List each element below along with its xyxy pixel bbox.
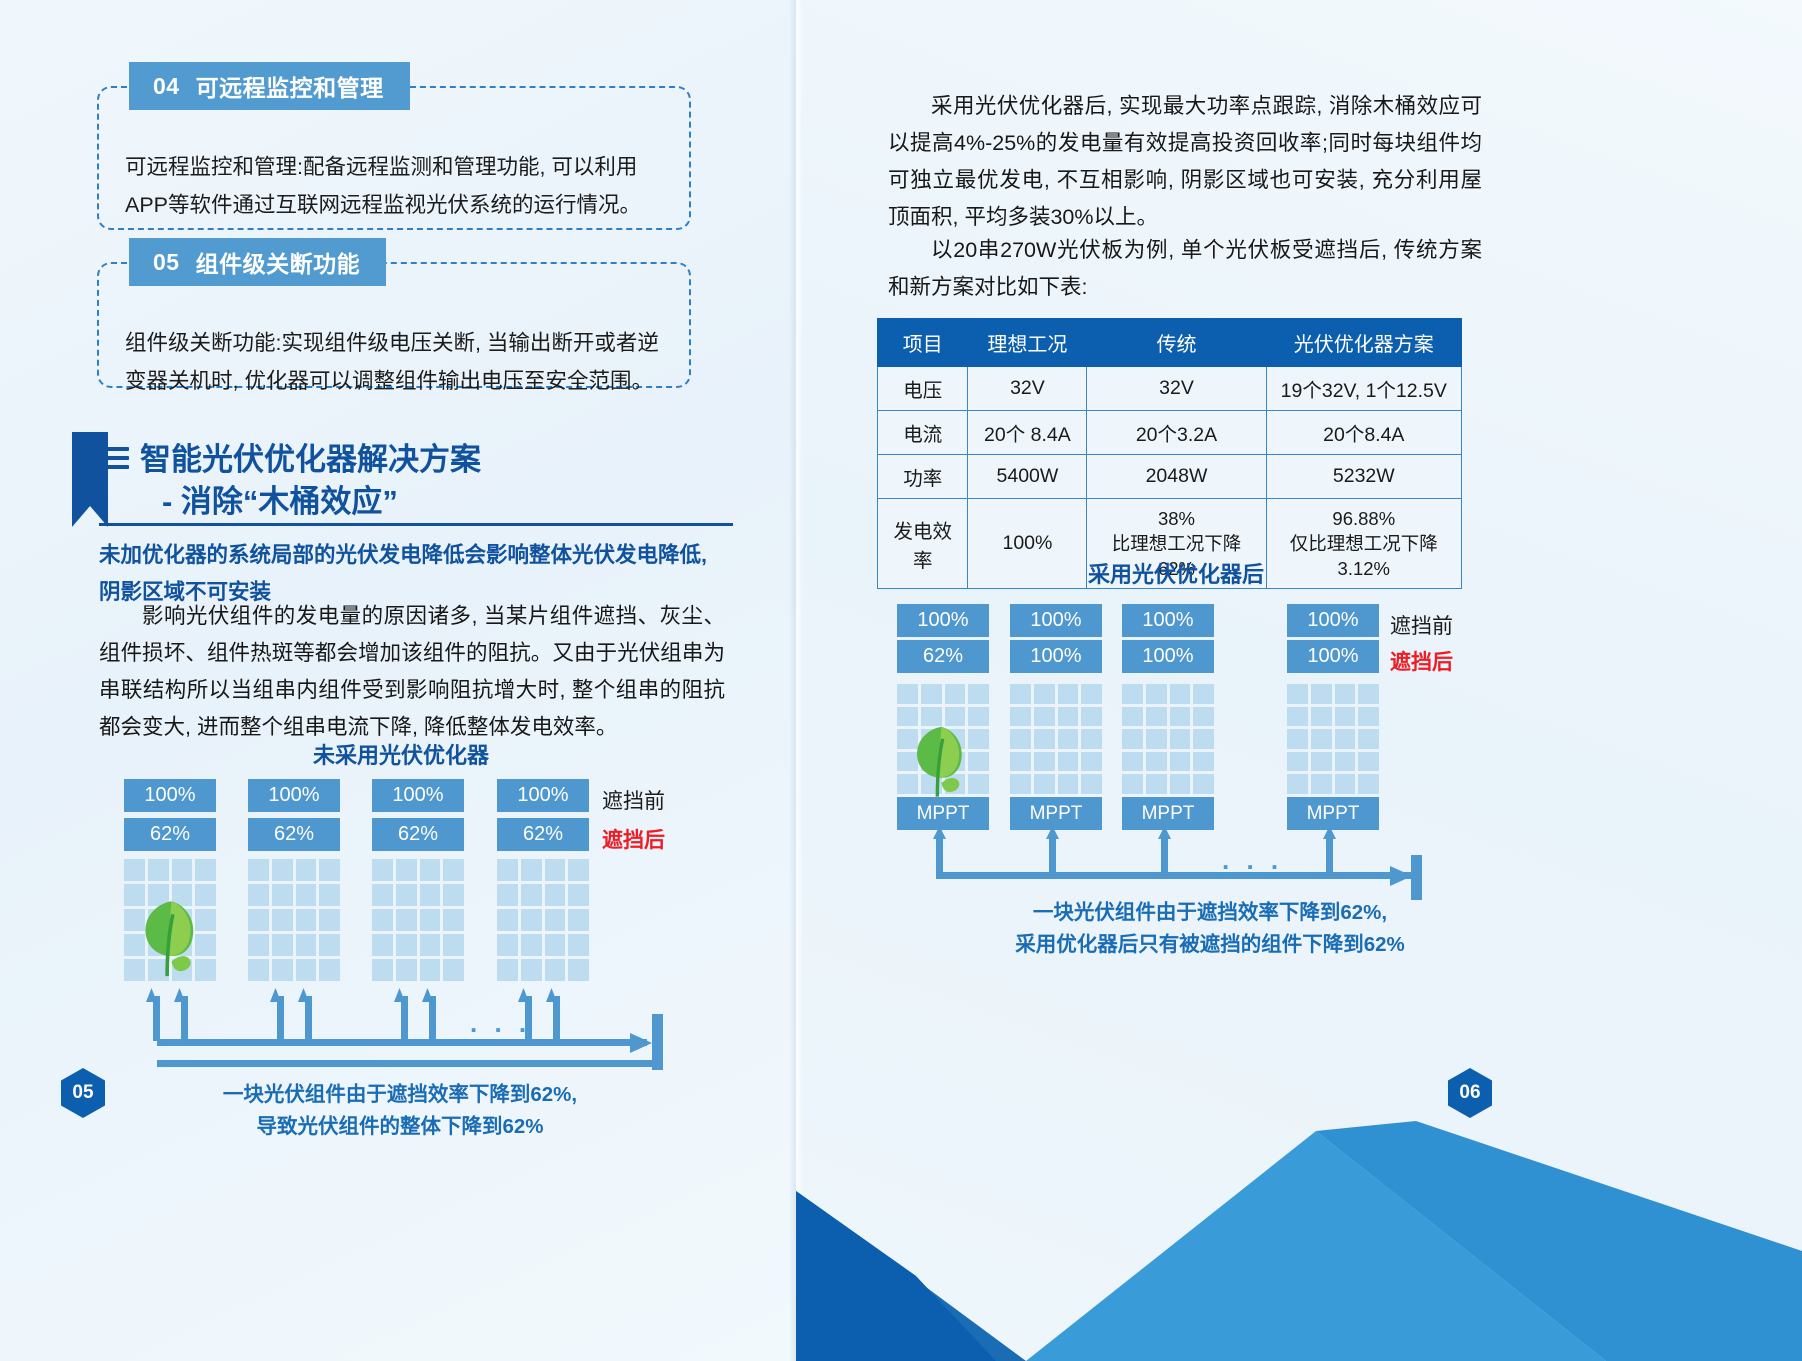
feature-card-04-header: 04 可远程监控和管理: [129, 62, 410, 110]
row-voltage-ideal: 32V: [968, 367, 1087, 411]
section-lead-line1: 未加优化器的系统局部的光伏发电降低会影响整体光伏发电降低,: [99, 537, 739, 574]
feature-card-04-body: 可远程监控和管理:配备远程监测和管理功能, 可以利用APP等软件通过互联网远程监…: [125, 148, 667, 224]
wire-left-bus-lower: [157, 1060, 652, 1067]
diagram-right-caption-line1: 一块光伏组件由于遮挡效率下降到62%,: [960, 897, 1460, 929]
diagram-right-caption: 一块光伏组件由于遮挡效率下降到62%, 采用优化器后只有被遮挡的组件下降到62%: [960, 897, 1460, 961]
row-power-label: 功率: [878, 455, 968, 499]
feature-card-05-body: 组件级关断功能:实现组件级电压关断, 当输出断开或者逆变器关机时, 优化器可以调…: [125, 324, 667, 400]
section-divider: [99, 523, 733, 526]
table-row: 功率 5400W 2048W 5232W: [878, 455, 1462, 499]
diagram-left-before-4: 100%: [497, 779, 589, 812]
section-title-line1: 智能光伏优化器解决方案: [140, 436, 481, 483]
pv-panel-right-2: [1010, 684, 1102, 794]
diagram-left-after-4: 62%: [497, 818, 589, 851]
brochure-spread: 04 可远程监控和管理 可远程监控和管理:配备远程监测和管理功能, 可以利用AP…: [0, 0, 1802, 1361]
diagram-left-title: 未采用光伏优化器: [313, 738, 489, 770]
right-paragraph-1: 采用光伏优化器后, 实现最大功率点跟踪, 消除木桶效应可以提高4%-25%的发电…: [888, 88, 1482, 236]
feature-card-05-header: 05 组件级关断功能: [129, 238, 386, 286]
row-efficiency-optimizer: 96.88% 仅比理想工况下降3.12%: [1266, 499, 1461, 589]
table-row: 电流 20个 8.4A 20个3.2A 20个8.4A: [878, 411, 1462, 455]
diagram-left-caption-line1: 一块光伏组件由于遮挡效率下降到62%,: [160, 1079, 640, 1111]
table-header-traditional: 传统: [1087, 319, 1266, 367]
diagram-right-ellipsis: . . .: [1222, 845, 1283, 876]
pv-panel-right-3: [1122, 684, 1214, 794]
section-paragraph: 影响光伏组件的发电量的原因诸多, 当某片组件遮挡、灰尘、组件损坏、组件热斑等都会…: [99, 598, 725, 746]
section-flag: [72, 432, 108, 506]
diagram-right-before-4: 100%: [1287, 604, 1379, 637]
table-row: 电压 32V 32V 19个32V, 1个12.5V: [878, 367, 1462, 411]
diagram-right-after-1: 62%: [897, 640, 989, 673]
row-current-ideal: 20个 8.4A: [968, 411, 1087, 455]
diagram-left-after-3: 62%: [372, 818, 464, 851]
table-header-row: 项目 理想工况 传统 光伏优化器方案: [878, 319, 1462, 367]
pv-panel-right-1: [897, 684, 989, 794]
feature-card-05: 05 组件级关断功能 组件级关断功能:实现组件级电压关断, 当输出断开或者逆变器…: [97, 262, 691, 388]
row-efficiency-traditional-main: 38%: [1093, 506, 1259, 531]
diagram-left-before-3: 100%: [372, 779, 464, 812]
pv-panel-right-4: [1287, 684, 1379, 794]
diagram-right-caption-line2: 采用优化器后只有被遮挡的组件下降到62%: [960, 929, 1460, 961]
diagram-right-label-after: 遮挡后: [1390, 646, 1453, 676]
comparison-table: 项目 理想工况 传统 光伏优化器方案 电压 32V 32V 19个32V, 1个…: [877, 318, 1462, 589]
diagram-left-before-1: 100%: [124, 779, 216, 812]
wire-right-bus: [936, 872, 1416, 879]
diagram-right-title: 采用光伏优化器后: [1088, 557, 1264, 589]
diagram-left-label-before: 遮挡前: [602, 785, 665, 815]
feature-card-04-number: 04: [153, 73, 180, 100]
row-current-optimizer: 20个8.4A: [1266, 411, 1461, 455]
diagram-right-after-4: 100%: [1287, 640, 1379, 673]
diagram-right-before-1: 100%: [897, 604, 989, 637]
wire-left-arrowheads: [140, 988, 580, 1004]
diagram-right-after-3: 100%: [1122, 640, 1214, 673]
feature-card-04-title: 可远程监控和管理: [196, 69, 384, 103]
diagram-right-before-2: 100%: [1010, 604, 1102, 637]
diagram-left-after-2: 62%: [248, 818, 340, 851]
diagram-right-label-before: 遮挡前: [1390, 610, 1453, 640]
wire-right-bus-arrow: [1390, 866, 1414, 886]
feature-card-05-number: 05: [153, 249, 180, 276]
diagram-left-label-after: 遮挡后: [602, 824, 665, 854]
feature-card-05-title: 组件级关断功能: [196, 245, 361, 279]
section-title-line2: - 消除“木桶效应”: [162, 478, 398, 525]
feature-card-04: 04 可远程监控和管理 可远程监控和管理:配备远程监测和管理功能, 可以利用AP…: [97, 86, 691, 230]
row-efficiency-ideal: 100%: [968, 499, 1087, 589]
pv-panel-left-1: [124, 859, 216, 981]
row-current-traditional: 20个3.2A: [1087, 411, 1266, 455]
pv-panel-left-2: [248, 859, 340, 981]
table-header-optimizer: 光伏优化器方案: [1266, 319, 1461, 367]
row-efficiency-optimizer-sub: 仅比理想工况下降3.12%: [1273, 531, 1455, 581]
diagram-right-before-3: 100%: [1122, 604, 1214, 637]
pv-panel-left-4: [497, 859, 589, 981]
row-power-optimizer: 5232W: [1266, 455, 1461, 499]
menu-icon: [101, 447, 129, 469]
row-efficiency-label: 发电效率: [878, 499, 968, 589]
row-power-ideal: 5400W: [968, 455, 1087, 499]
row-voltage-traditional: 32V: [1087, 367, 1266, 411]
row-current-label: 电流: [878, 411, 968, 455]
pv-panel-left-3: [372, 859, 464, 981]
diagram-left-caption: 一块光伏组件由于遮挡效率下降到62%, 导致光伏组件的整体下降到62%: [160, 1079, 640, 1143]
row-voltage-optimizer: 19个32V, 1个12.5V: [1266, 367, 1461, 411]
table-header-ideal: 理想工况: [968, 319, 1087, 367]
table-header-item: 项目: [878, 319, 968, 367]
footer-decoration: [796, 1061, 1802, 1361]
diagram-left-after-1: 62%: [124, 818, 216, 851]
diagram-left-ellipsis: . . .: [470, 1008, 531, 1039]
wire-right-arrowheads: [925, 826, 1345, 840]
row-efficiency-optimizer-main: 96.88%: [1273, 506, 1455, 531]
row-power-traditional: 2048W: [1087, 455, 1266, 499]
diagram-left-caption-line2: 导致光伏组件的整体下降到62%: [160, 1111, 640, 1143]
wire-left-bus-arrow: [630, 1033, 654, 1053]
row-voltage-label: 电压: [878, 367, 968, 411]
diagram-right-after-2: 100%: [1010, 640, 1102, 673]
diagram-left-before-2: 100%: [248, 779, 340, 812]
right-paragraph-2: 以20串270W光伏板为例, 单个光伏板受遮挡后, 传统方案和新方案对比如下表:: [888, 232, 1482, 306]
